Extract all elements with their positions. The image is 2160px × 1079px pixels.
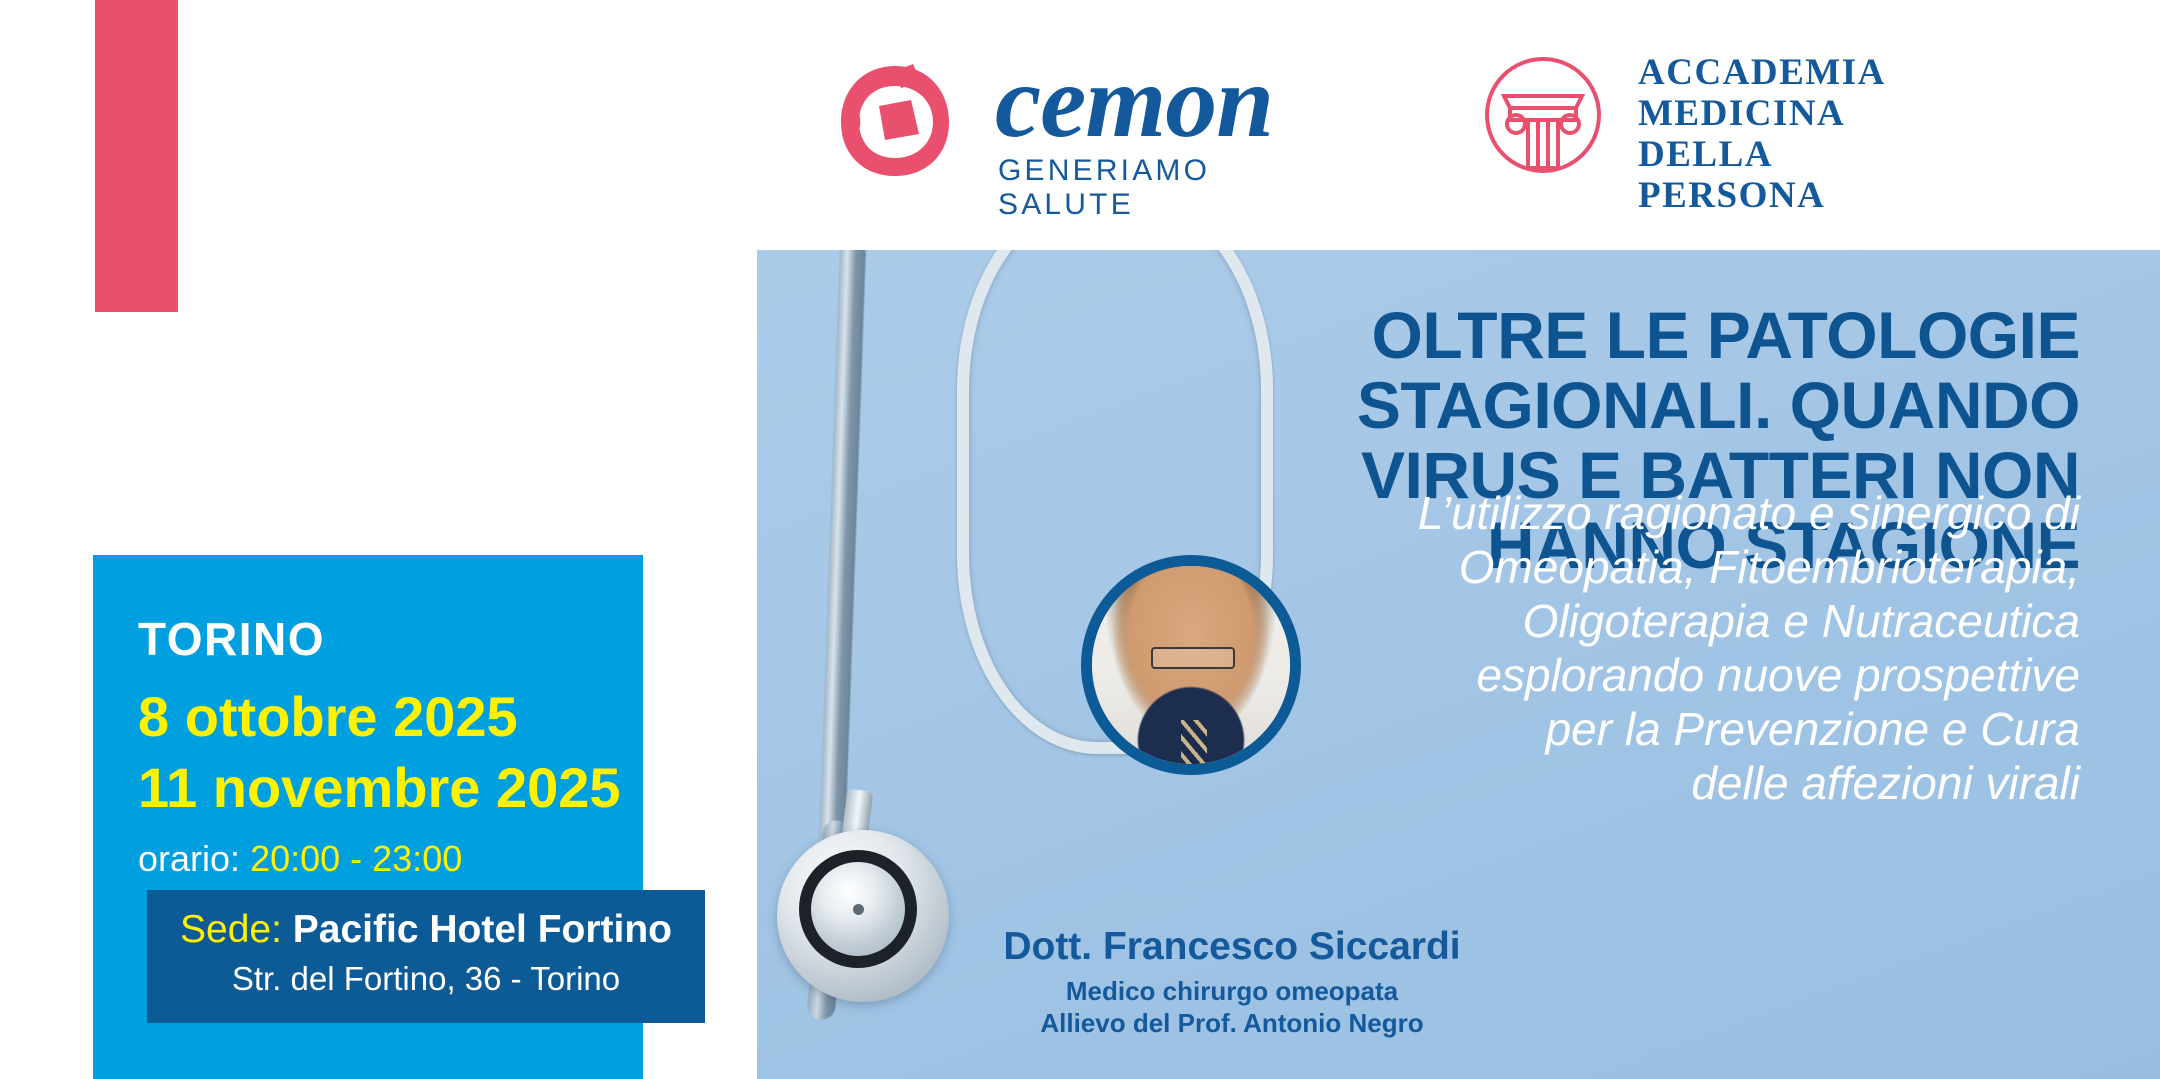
cemon-tagline: GENERIAMO SALUTE <box>998 154 1355 222</box>
cemon-logo: cemon GENERIAMO SALUTE <box>835 48 1355 188</box>
venue-name-row: Sede: Pacific Hotel Fortino <box>147 908 705 952</box>
headline-line-1: OLTRE LE PATOLOGIE <box>1260 300 2080 370</box>
event-city: TORINO <box>138 612 325 666</box>
seminar-banner: I SEMINARI TORINO 8 ottobre 2025 11 nove… <box>0 0 2160 1079</box>
stethoscope-center-hole <box>853 904 864 915</box>
subtitle-line-5: per la Prevenzione e Cura <box>1250 702 2080 756</box>
speaker-role-line-1: Medico chirurgo omeopata <box>952 975 1512 1007</box>
accademia-line-2: MEDICINA <box>1638 93 1950 134</box>
headline-line-2: STAGIONALI. QUANDO <box>1260 370 2080 440</box>
hero-photo-panel: Dott. Francesco Siccardi Medico chirurgo… <box>757 250 2160 1079</box>
subtitle-line-1: L’utilizzo ragionato e sinergico di <box>1250 486 2080 540</box>
stethoscope-tube-icon <box>818 250 866 880</box>
subtitle-line-3: Oligoterapia e Nutraceutica <box>1250 594 2080 648</box>
speaker-tie <box>1181 720 1207 768</box>
event-date-2: 11 novembre 2025 <box>138 755 621 820</box>
subtitle-line-6: delle affezioni virali <box>1250 756 2080 810</box>
accademia-line-3: DELLA PERSONA <box>1638 134 1950 216</box>
event-time-row: orario: 20:00 - 23:00 <box>138 838 462 880</box>
cemon-wordmark: cemon <box>995 42 1273 162</box>
venue-label: Sede: <box>180 908 282 951</box>
speaker-role: Medico chirurgo omeopata Allievo del Pro… <box>952 975 1512 1039</box>
accademia-line-1: ACCADEMIA <box>1638 52 1950 93</box>
accademia-column-icon <box>1480 52 1606 178</box>
accademia-wordmark: ACCADEMIA MEDICINA DELLA PERSONA <box>1638 52 1950 216</box>
event-time-value: 20:00 - 23:00 <box>250 838 462 879</box>
venue-name: Pacific Hotel Fortino <box>293 908 672 951</box>
cemon-mark-icon <box>835 60 955 180</box>
accademia-logo: ACCADEMIA MEDICINA DELLA PERSONA <box>1480 40 1950 180</box>
subtitle-line-4: esplorando nuove prospettive <box>1250 648 2080 702</box>
venue-address: Str. del Fortino, 36 - Torino <box>147 960 705 998</box>
event-time-label: orario: <box>138 838 240 879</box>
subtitle-line-2: Omeopatia, Fitoembrioterapia, <box>1250 540 2080 594</box>
speaker-name: Dott. Francesco Siccardi <box>952 925 1512 969</box>
seminari-vertical-label: I SEMINARI <box>110 0 166 108</box>
speaker-role-line-2: Allievo del Prof. Antonio Negro <box>952 1007 1512 1039</box>
event-date-1: 8 ottobre 2025 <box>138 684 518 749</box>
event-subtitle: L’utilizzo ragionato e sinergico di Omeo… <box>1250 486 2080 810</box>
speaker-glasses-icon <box>1151 647 1234 669</box>
